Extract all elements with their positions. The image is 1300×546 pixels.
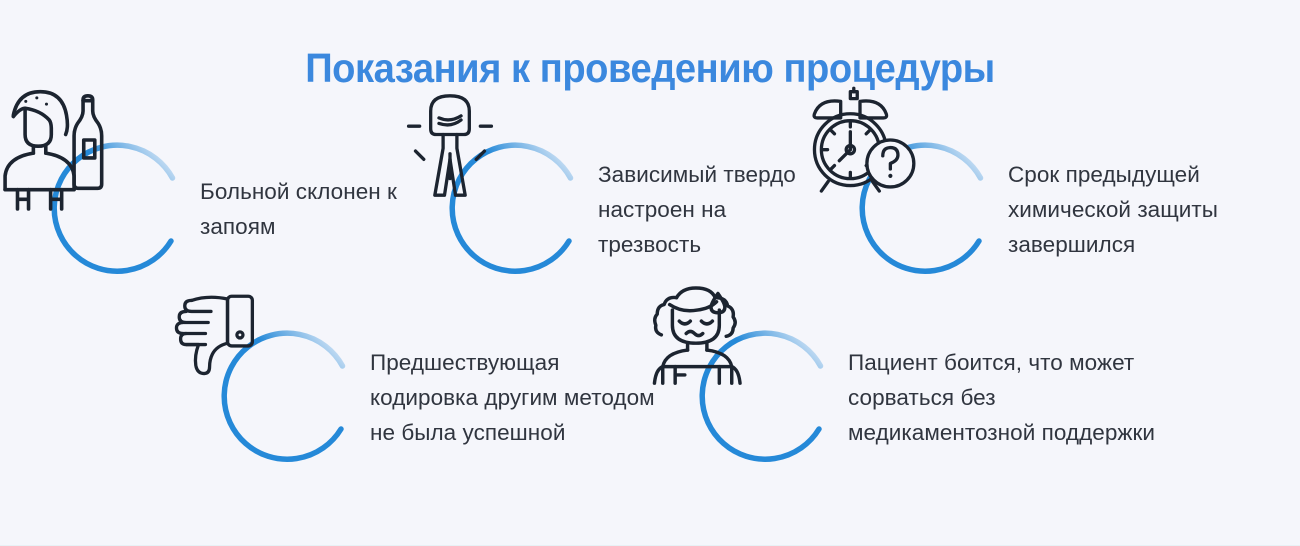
thumbs-down-icon <box>153 259 291 397</box>
worried-patient-icon <box>631 259 769 397</box>
text-line: Зависимый твердо <box>598 157 796 192</box>
list-item-text: Зависимый твердо настроен на трезвость <box>588 157 796 262</box>
text-line: медикаментозной поддержки <box>848 415 1155 450</box>
badge-ring <box>222 328 360 466</box>
badge-ring <box>700 328 838 466</box>
text-line: Предшествующая <box>370 345 655 380</box>
list-item-text: Срок предыдущей химической защиты заверш… <box>998 157 1218 262</box>
infographic-root: Показания к проведению процедуры <box>0 0 1300 546</box>
text-line: трезвость <box>598 227 796 262</box>
man-with-bottle-icon <box>0 71 121 209</box>
determined-person-icon <box>381 71 519 209</box>
text-line: запоям <box>200 209 397 244</box>
list-item-text: Больной склонен к запоям <box>190 174 397 244</box>
badge-ring <box>450 140 588 278</box>
list-item-text: Пациент боится, что может сорваться без … <box>838 345 1155 450</box>
text-line: не была успешной <box>370 415 655 450</box>
text-line: Пациент боится, что может <box>848 345 1155 380</box>
list-item-text: Предшествующая кодировка другим методом … <box>360 345 655 450</box>
text-line: Больной склонен к <box>200 174 397 209</box>
text-line: кодировка другим методом <box>370 380 655 415</box>
badge-ring <box>52 140 190 278</box>
list-item: Срок предыдущей химической защиты заверш… <box>860 140 1260 278</box>
text-line: завершился <box>1008 227 1218 262</box>
text-line: сорваться без <box>848 380 1155 415</box>
text-line: Срок предыдущей <box>1008 157 1218 192</box>
list-item: Пациент боится, что может сорваться без … <box>700 328 1260 466</box>
list-item: Предшествующая кодировка другим методом … <box>222 328 692 466</box>
text-line: химической защиты <box>1008 192 1218 227</box>
badge-ring <box>860 140 998 278</box>
page-title: Показания к проведению процедуры <box>46 44 1255 92</box>
text-line: настроен на <box>598 192 796 227</box>
alarm-clock-question-icon <box>791 71 929 209</box>
